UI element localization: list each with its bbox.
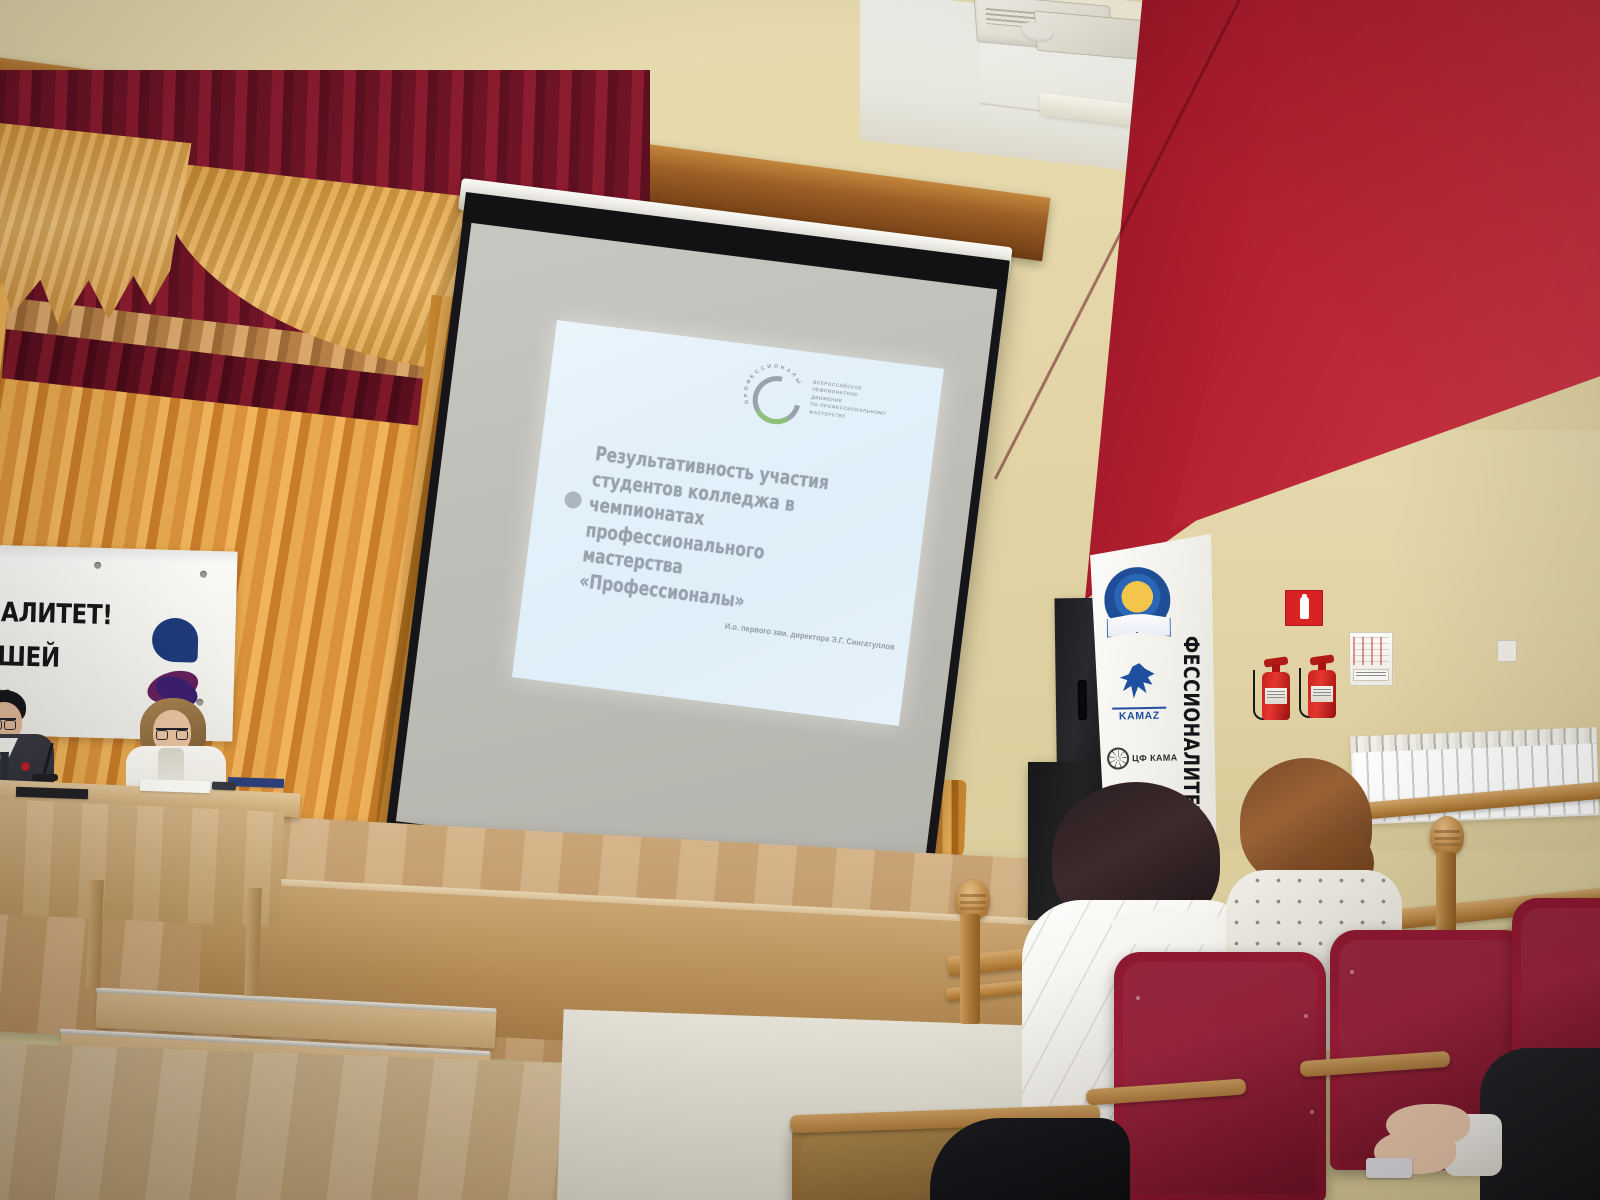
fire-safety-poster-caption [1353, 669, 1389, 681]
desk-microphone-base [32, 774, 58, 781]
seat-stud [1310, 1110, 1314, 1114]
jacket-collar [1112, 910, 1222, 944]
slide-title: Результативность участия студентов колле… [578, 441, 881, 629]
professionalitet-wall-banner: ОНАЛИТЕТ! РОШЕЙ МИ! [0, 544, 238, 741]
banner-text-line-2: РОШЕЙ [0, 640, 60, 674]
woman-glasses-icon [156, 728, 188, 738]
man-lapel-pin-icon [21, 762, 30, 771]
man-glasses-icon [0, 718, 16, 728]
presidium-table-apron [0, 798, 284, 927]
mobile-phone[interactable] [1366, 1158, 1412, 1178]
seat-stud [1304, 1014, 1308, 1018]
seat-stud [1350, 970, 1354, 974]
fire-safety-poster [1349, 632, 1393, 686]
professionals-logo-icon: П Р О Ф Е С С И О Н А Л Ы [742, 362, 805, 425]
light-switch-plate[interactable] [1497, 640, 1517, 662]
documents-on-table [140, 779, 210, 793]
kamaz-horse-icon [1119, 663, 1158, 706]
fire-extinguisher-left [1262, 658, 1290, 720]
audience-foreground-shoulder [930, 1118, 1130, 1200]
cf-kama-gear-icon [1107, 747, 1129, 769]
logo-caption-block: ВСЕРОССИЙСКОЕ ЧЕМПИОНАТНОЕ ДВИЖЕНИЕ ПО П… [809, 379, 923, 430]
seat-stud [1136, 996, 1140, 1000]
banner-grommet [196, 699, 203, 706]
projector-screen[interactable]: П Р О Ф Е С С И О Н А Л Ы [462, 178, 1022, 858]
theater-seat-front-left[interactable] [1114, 952, 1326, 1200]
extinguisher-label-left [1265, 688, 1287, 704]
speaker-port-slot [1078, 680, 1088, 720]
banner-text-line-1: ОНАЛИТЕТ! [0, 596, 113, 631]
slide-presenter-credit: И.о. первого зам. директора Э.Г. Сингату… [724, 622, 895, 652]
fire-extinguisher-sign-icon [1285, 590, 1323, 626]
railing-finial-right [1430, 816, 1464, 856]
banner-grommet [200, 571, 207, 578]
blue-folder-on-table [228, 777, 284, 788]
fire-extinguisher-right [1308, 656, 1336, 718]
kamaz-wordmark: KAMAZ [1112, 707, 1166, 723]
banner-blob-navy [152, 617, 199, 662]
banner-grommet [94, 562, 101, 569]
railing-post-left [960, 914, 980, 1024]
extinguisher-label-right [1311, 686, 1333, 702]
logo-wordmark-circular: П Р О Ф Е С С И О Н А Л Ы [740, 360, 807, 427]
auditorium-photo-scene: П Р О Ф Е С С И О Н А Л Ы [0, 0, 1600, 1200]
rollup-vertical-text: ФЕССИОНАЛИТЕТ [1179, 636, 1203, 819]
kamaz-logo: KAMAZ [1111, 663, 1166, 726]
cf-kama-label: ЦФ КАМА [1132, 752, 1178, 763]
slide-bullet-icon [564, 490, 583, 509]
phone-on-table [212, 782, 236, 791]
projected-slide: П Р О Ф Е С С И О Н А Л Ы [512, 320, 944, 726]
college-gear-and-book-emblem [1104, 567, 1171, 634]
